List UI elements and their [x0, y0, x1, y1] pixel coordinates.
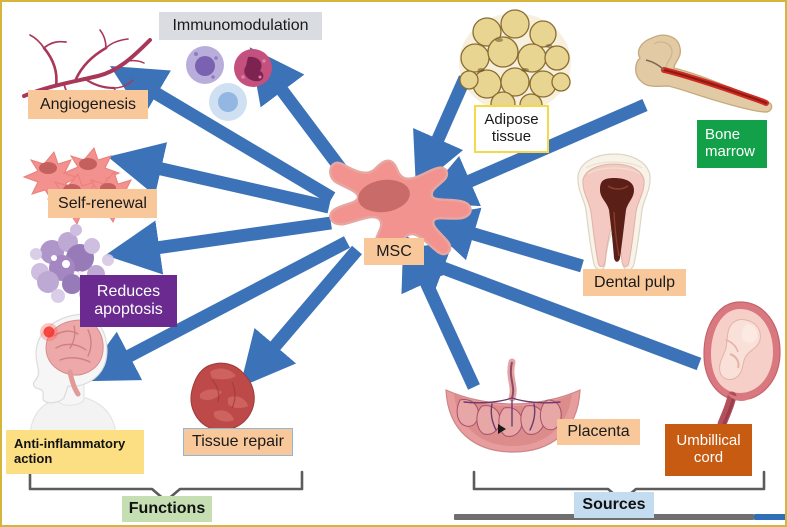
label-dental-pulp[interactable]: Dental pulp: [583, 269, 686, 296]
label-bone-marrow[interactable]: Bone marrow: [697, 120, 767, 168]
adipocyte-cluster-icon: [457, 10, 573, 115]
femur-bone-icon: [624, 30, 774, 118]
msc-diagram-figure: Angiogenesis Immunomodulation Self-renew…: [0, 0, 787, 527]
immune-cells-icon: [180, 44, 285, 122]
label-reduces-apoptosis[interactable]: Reduces apoptosis: [80, 275, 177, 327]
arrow-msc-to-tissue-repair: [264, 250, 357, 359]
bottom-scroll-bar-thumb[interactable]: [754, 514, 786, 520]
group-label-functions[interactable]: Functions: [122, 496, 212, 522]
label-adipose-tissue[interactable]: Adipose tissue: [474, 105, 549, 153]
arrow-msc-to-self-renewal: [144, 165, 329, 207]
tooth-cross-section-icon: [574, 152, 654, 274]
label-tissue-repair[interactable]: Tissue repair: [183, 428, 293, 456]
label-self-renewal[interactable]: Self-renewal: [48, 189, 157, 218]
label-umbilical-cord[interactable]: Umbillical cord: [665, 424, 752, 476]
arrow-msc-to-reduces-apoptosis: [142, 223, 331, 250]
label-angiogenesis[interactable]: Angiogenesis: [28, 90, 148, 119]
group-label-sources[interactable]: Sources: [574, 492, 654, 518]
fetus-umbilical-cord-icon: [696, 300, 782, 434]
label-immunomodulation[interactable]: Immunomodulation: [159, 12, 322, 40]
label-anti-inflammatory-action[interactable]: Anti-inflammatory action: [6, 430, 144, 474]
label-placenta[interactable]: Placenta: [557, 419, 640, 445]
tissue-mass-icon: [188, 360, 260, 434]
label-msc[interactable]: MSC: [364, 238, 424, 265]
